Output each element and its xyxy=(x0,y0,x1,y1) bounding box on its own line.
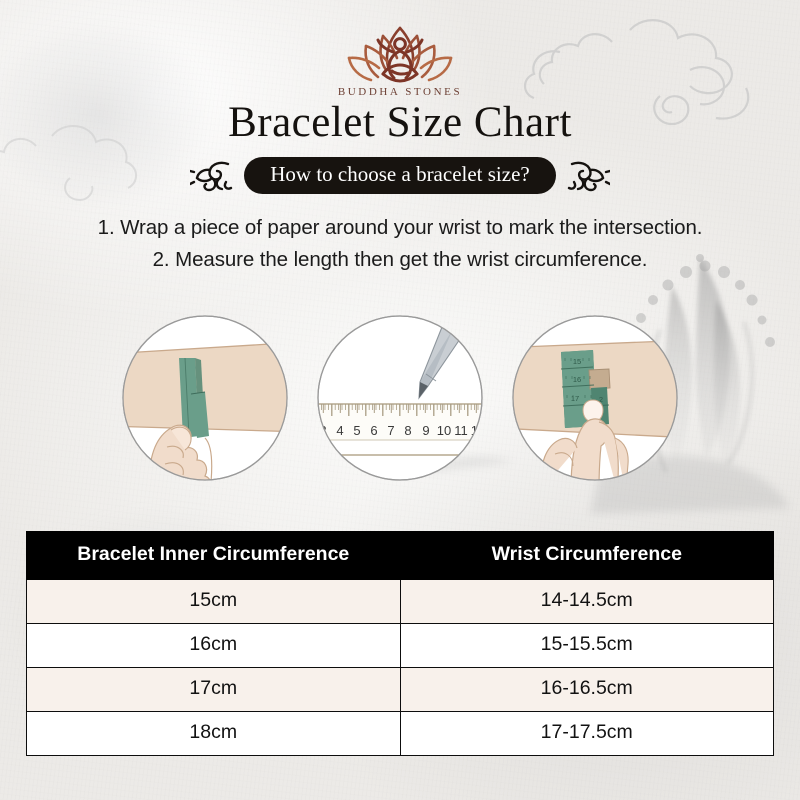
flourish-ornament-left-icon xyxy=(190,158,234,194)
cell-wrist-size: 16-16.5cm xyxy=(400,668,774,712)
cell-wrist-size: 17-17.5cm xyxy=(400,712,774,756)
table-row: 15cm 14-14.5cm xyxy=(27,580,774,624)
svg-text:8: 8 xyxy=(404,423,411,438)
table-body: 15cm 14-14.5cm 16cm 15-15.5cm 17cm 16-16… xyxy=(27,580,774,756)
svg-text:5: 5 xyxy=(353,423,360,438)
table-row: 18cm 17-17.5cm xyxy=(27,712,774,756)
cell-bracelet-size: 17cm xyxy=(27,668,401,712)
svg-text:16: 16 xyxy=(573,375,581,384)
subtitle-row: How to choose a bracelet size? xyxy=(0,157,800,194)
instruction-step-1: 1. Wrap a piece of paper around your wri… xyxy=(0,212,800,244)
illustration-row: 3 4 5 6 7 8 9 10 11 12 xyxy=(0,314,800,486)
table-header-row: Bracelet Inner Circumference Wrist Circu… xyxy=(27,532,774,580)
brand-name: BUDDHA STONES xyxy=(0,86,800,98)
cell-bracelet-size: 15cm xyxy=(27,580,401,624)
bracelet-size-chart-page: BUDDHA STONES Bracelet Size Chart How to… xyxy=(0,0,800,800)
svg-text:9: 9 xyxy=(422,423,429,438)
column-header-wrist-circumference: Wrist Circumference xyxy=(400,532,774,580)
svg-text:10: 10 xyxy=(437,423,451,438)
subtitle-pill: How to choose a bracelet size? xyxy=(244,157,555,194)
table-row: 17cm 16-16.5cm xyxy=(27,668,774,712)
size-chart-table: Bracelet Inner Circumference Wrist Circu… xyxy=(26,531,774,756)
illustration-step-3: 15 16 17 2 xyxy=(511,314,679,482)
table-header: Bracelet Inner Circumference Wrist Circu… xyxy=(27,532,774,580)
table-row: 16cm 15-15.5cm xyxy=(27,624,774,668)
instruction-step-2: 2. Measure the length then get the wrist… xyxy=(0,244,800,276)
cell-wrist-size: 15-15.5cm xyxy=(400,624,774,668)
svg-text:15: 15 xyxy=(573,357,581,366)
svg-text:7: 7 xyxy=(387,423,394,438)
svg-text:17: 17 xyxy=(571,394,579,403)
flourish-ornament-right-icon xyxy=(566,158,610,194)
cell-wrist-size: 14-14.5cm xyxy=(400,580,774,624)
ruler-and-pencil-icon: 3 4 5 6 7 8 9 10 11 12 xyxy=(316,314,484,482)
lotus-meditation-icon xyxy=(339,22,461,84)
illustration-step-1 xyxy=(121,314,289,482)
cell-bracelet-size: 18cm xyxy=(27,712,401,756)
brand-logo: BUDDHA STONES xyxy=(0,22,800,98)
column-header-bracelet-inner-circumference: Bracelet Inner Circumference xyxy=(27,532,401,580)
svg-text:4: 4 xyxy=(336,423,343,438)
wrist-wrapped-with-paper-strip-icon xyxy=(121,314,289,482)
wrist-with-measuring-tape-icon: 15 16 17 2 xyxy=(511,314,679,482)
instruction-list: 1. Wrap a piece of paper around your wri… xyxy=(0,212,800,276)
svg-text:11: 11 xyxy=(454,423,468,438)
page-title: Bracelet Size Chart xyxy=(0,98,800,147)
svg-text:6: 6 xyxy=(370,423,377,438)
illustration-step-2: 3 4 5 6 7 8 9 10 11 12 xyxy=(316,314,484,482)
cell-bracelet-size: 16cm xyxy=(27,624,401,668)
